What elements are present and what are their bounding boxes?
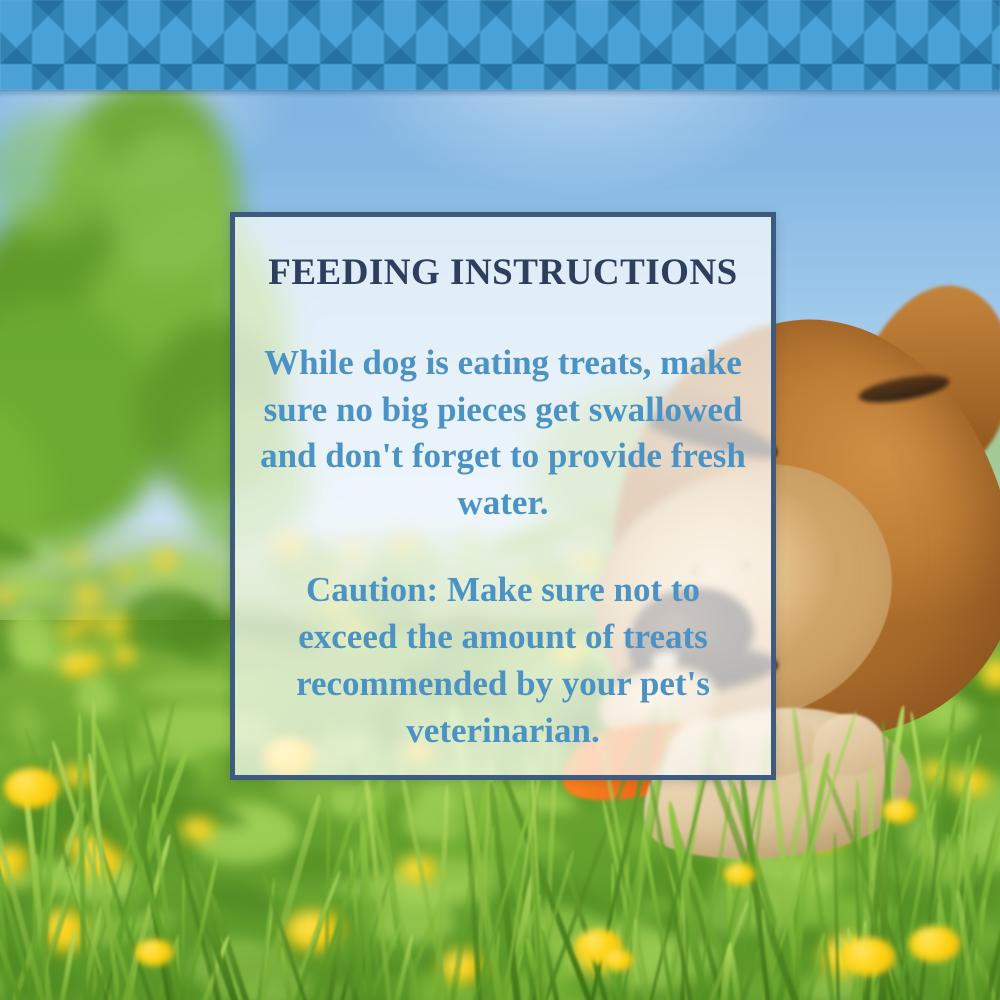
instruction-paragraph-2: Caution: Make sure not to exceed the amo… xyxy=(251,567,755,755)
gingham-banner xyxy=(0,0,1000,90)
feeding-instructions-poster: FEEDING INSTRUCTIONS While dog is eating… xyxy=(0,0,1000,1000)
instructions-panel: FEEDING INSTRUCTIONS While dog is eating… xyxy=(230,212,776,780)
instructions-body: While dog is eating treats, make sure no… xyxy=(251,340,755,755)
page-title: FEEDING INSTRUCTIONS xyxy=(268,253,738,294)
gingham-banner-shadow xyxy=(0,90,1000,97)
instruction-paragraph-1: While dog is eating treats, make sure no… xyxy=(251,340,755,528)
